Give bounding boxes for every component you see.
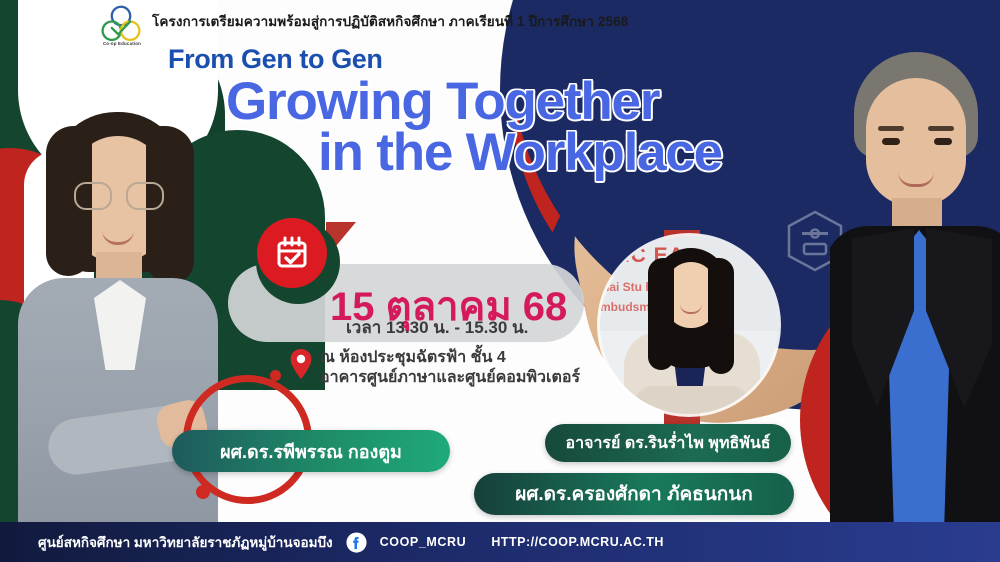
title-line-1: Growing Together: [226, 76, 836, 127]
event-poster: LIC EA hai Stu hat Trad mbudsm abhat Co-…: [0, 0, 1000, 562]
footer-bar: ศูนย์สหกิจศึกษา มหาวิทยาลัยราชภัฏหมู่บ้า…: [0, 522, 1000, 562]
calendar-check-icon: [257, 218, 327, 288]
event-time: เวลา 13.30 น. - 15.30 น.: [346, 314, 528, 341]
title-line-2: in the Workplace: [204, 127, 836, 178]
title-main: Growing Together in the Workplace: [226, 76, 836, 179]
event-venue: ณ ห้องประชุมฉัตรฟ้า ชั้น 4 อาคารศูนย์ภาษ…: [320, 348, 580, 389]
program-header-text: โครงการเตรียมความพร้อมสู่การปฏิบัติสหกิจ…: [152, 10, 628, 32]
decor-red-dot-2: [270, 370, 281, 381]
speaker-name-badge-1: ผศ.ดร.รพีพรรณ กองตูม: [172, 430, 450, 472]
speaker-name-badge-3: ผศ.ดร.ครองศักดา ภัคธนกนก: [474, 473, 794, 515]
footer-website-url[interactable]: HTTP://COOP.MCRU.AC.TH: [491, 535, 664, 549]
speaker-name-badge-2: อาจารย์ ดร.รินร่ำไพ พุทธิพันธ์: [545, 424, 791, 462]
location-pin-icon: [289, 348, 313, 380]
logo-caption: Co-op Education: [96, 41, 148, 46]
title-subtitle: From Gen to Gen: [168, 44, 383, 75]
speaker-photo-center: LIC EA hai Stu hat Trad mbudsm abhat: [600, 236, 778, 414]
footer-facebook-handle[interactable]: COOP_MCRU: [380, 535, 467, 549]
speaker-photo-right: [830, 52, 1000, 532]
footer-organization: ศูนย์สหกิจศึกษา มหาวิทยาลัยราชภัฏหมู่บ้า…: [38, 531, 333, 553]
facebook-icon[interactable]: [346, 532, 367, 553]
venue-line-2: อาคารศูนย์ภาษาและศูนย์คอมพิวเตอร์: [320, 368, 580, 388]
venue-line-1: ณ ห้องประชุมฉัตรฟ้า ชั้น 4: [320, 348, 580, 368]
decor-red-dot-1: [196, 485, 210, 499]
